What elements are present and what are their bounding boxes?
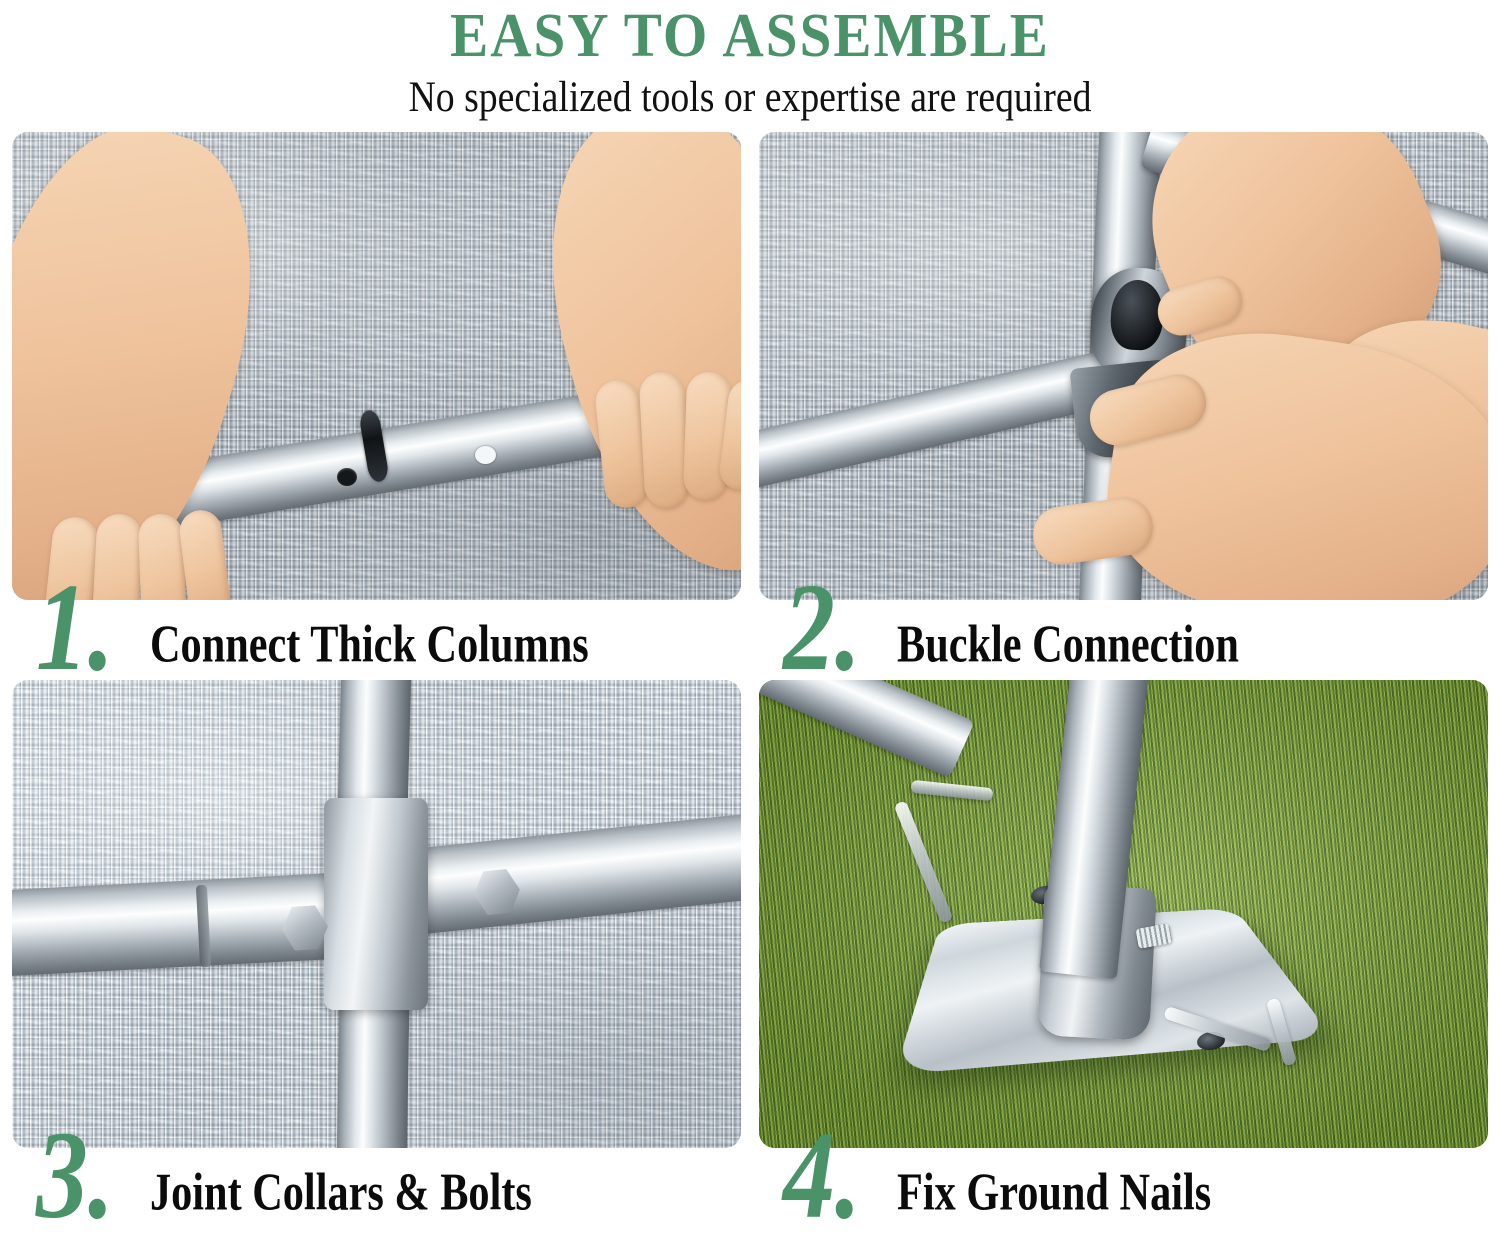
step-1-photo	[12, 132, 741, 600]
pipe-bolt-hole-icon	[475, 446, 496, 464]
pipe-bolt-hole-icon	[337, 468, 357, 486]
step-4-photo	[759, 680, 1488, 1148]
step-3-caption: 3. Joint Collars & Bolts	[12, 1148, 741, 1222]
step-2-label: Buckle Connection	[897, 616, 1239, 674]
step-2-number: 2.	[783, 589, 861, 668]
header: EASY TO ASSEMBLE No specialized tools or…	[0, 0, 1500, 118]
step-4-number: 4.	[783, 1137, 861, 1216]
step-3-photo	[12, 680, 741, 1148]
assembly-steps-grid: 1. Connect Thick Columns 2. Buckle Conne…	[12, 132, 1488, 1222]
step-card-3: 3. Joint Collars & Bolts	[12, 680, 741, 1222]
step-card-1: 1. Connect Thick Columns	[12, 132, 741, 674]
step-1-caption: 1. Connect Thick Columns	[12, 600, 741, 674]
step-3-number: 3.	[36, 1137, 114, 1216]
step-4-caption: 4. Fix Ground Nails	[759, 1148, 1488, 1222]
vertical-pole-icon	[336, 989, 409, 1148]
step-4-label: Fix Ground Nails	[897, 1164, 1211, 1222]
finger-icon	[638, 371, 690, 509]
step-2-caption: 2. Buckle Connection	[759, 600, 1488, 674]
step-3-label: Joint Collars & Bolts	[150, 1164, 532, 1222]
step-card-2: 2. Buckle Connection	[759, 132, 1488, 674]
step-1-label: Connect Thick Columns	[150, 616, 589, 674]
joint-collar-icon	[324, 798, 428, 1010]
step-card-4: 4. Fix Ground Nails	[759, 680, 1488, 1222]
page-subtitle: No specialized tools or expertise are re…	[60, 72, 1440, 121]
step-1-number: 1.	[36, 589, 114, 668]
step-2-photo	[759, 132, 1488, 600]
page-title: EASY TO ASSEMBLE	[0, 2, 1500, 69]
